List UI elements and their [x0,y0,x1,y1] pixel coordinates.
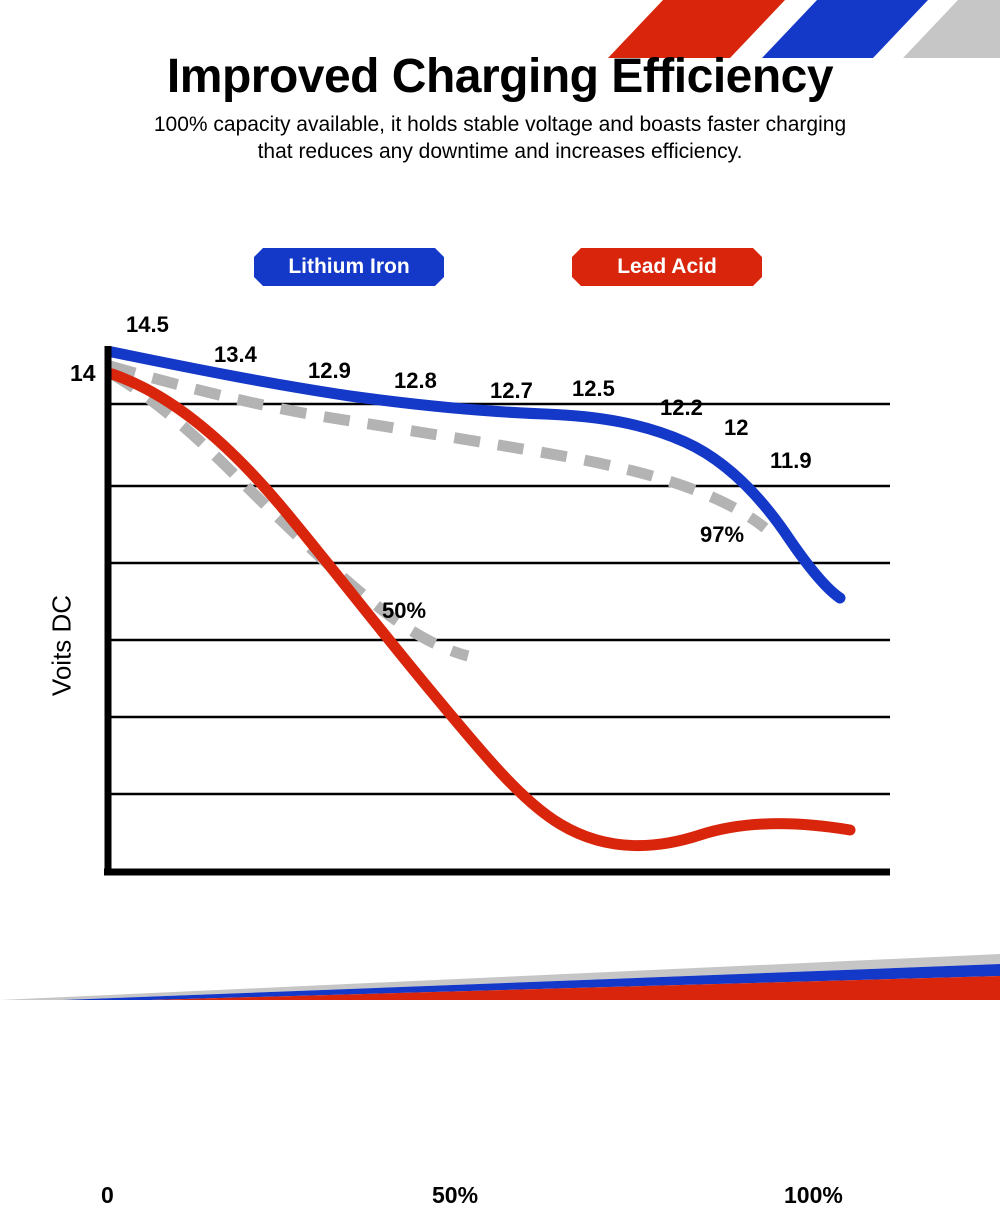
data-label-12: 12 [724,415,748,441]
bottom-decorative-banner [0,942,1000,1000]
bottom-band-gray [0,954,1000,1000]
y-axis-tick-14: 14 [70,360,96,387]
data-label-11-9: 11.9 [770,448,812,474]
series-line-lithium-dashed [110,366,765,528]
header: Improved Charging Efficiency 100% capaci… [0,52,1000,166]
y-axis-title: Voits DC [47,556,78,736]
subtitle-line-2: that reduces any downtime and increases … [85,139,915,166]
annotation-50-percent: 50% [382,598,426,624]
x-axis-labels: 0 50% 100% [0,1182,1000,1222]
page-subtitle: 100% capacity available, it holds stable… [85,112,915,166]
chart-legend: Lithium Iron Lead Acid [0,248,1000,286]
x-axis-tick-100: 100% [784,1182,843,1209]
data-label-12-7: 12.7 [490,378,533,404]
x-axis-tick-50: 50% [432,1182,478,1209]
series-line-lithium-iron [112,352,840,598]
data-label-12-9: 12.9 [308,358,351,384]
annotation-97-percent: 97% [700,522,744,548]
series-line-lead-acid [112,374,850,846]
legend-item-lithium-iron[interactable]: Lithium Iron [254,248,444,286]
bottom-band-blue [62,964,1000,1000]
data-label-12-5: 12.5 [572,376,615,402]
chart-area: 14 Voits DC 14.5 13.4 12.9 12.8 12.7 12.… [0,300,1000,940]
data-label-13-4: 13.4 [214,342,257,368]
legend-item-lead-acid[interactable]: Lead Acid [572,248,762,286]
bottom-band-red [150,976,1000,1000]
data-label-12-2: 12.2 [660,395,703,421]
x-axis-tick-0: 0 [101,1182,114,1209]
data-label-14-5: 14.5 [126,312,169,338]
top-stripe-gray [903,0,1000,58]
page-title: Improved Charging Efficiency [0,52,1000,102]
data-label-12-8: 12.8 [394,368,437,394]
subtitle-line-1: 100% capacity available, it holds stable… [85,112,915,139]
